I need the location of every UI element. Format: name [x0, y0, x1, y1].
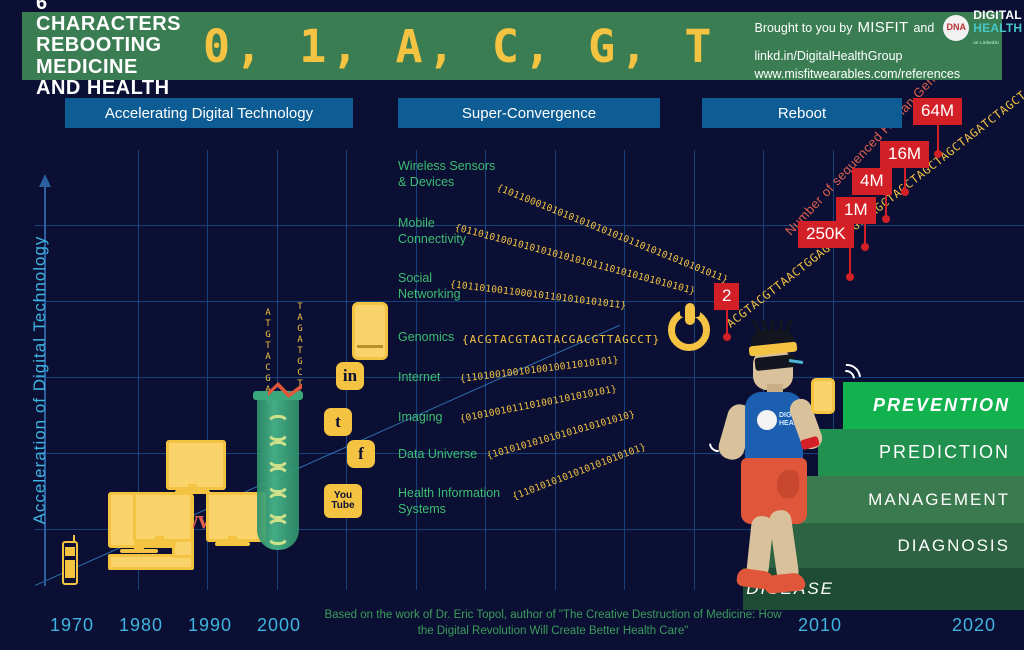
x-axis-tick-2020: 2020 — [952, 615, 996, 636]
dna-test-tube — [257, 385, 299, 550]
monitor-base — [142, 542, 177, 546]
dna-helix-turn — [266, 415, 290, 441]
phone-screen — [65, 547, 75, 556]
label-line-1: Data Universe — [398, 447, 477, 463]
mobile-phone-icon — [62, 535, 78, 585]
y-axis-label: Acceleration of Digital Technology — [30, 190, 50, 570]
dna-helix-turn — [266, 441, 290, 467]
milestone-dot — [846, 273, 854, 281]
milestone-value: 2 — [714, 283, 739, 310]
brand-conjunction: and — [913, 19, 934, 37]
milestone-value: 64M — [913, 98, 962, 125]
label-line-1: Wireless Sensors — [398, 159, 495, 175]
hair-spike — [771, 320, 774, 334]
milestone-value: 4M — [852, 168, 892, 195]
smartphone-icon — [811, 378, 835, 414]
staircase-step-prevention[interactable]: PREVENTION — [843, 382, 1024, 429]
page-title-line1: 6 CHARACTERS REBOOTING — [36, 0, 181, 57]
runner-right-shoe — [764, 572, 806, 594]
runner-figure: DIGITAL HEALTH — [715, 330, 835, 595]
network-computer-left-icon — [133, 492, 193, 548]
misfit-wordmark: MISFIT — [857, 17, 908, 39]
hair-spike — [762, 320, 768, 334]
hair-spike — [752, 320, 760, 334]
power-stem — [685, 303, 695, 325]
label-line-2: Systems — [398, 502, 500, 518]
x-axis-tick-2010: 2010 — [798, 615, 842, 636]
linkedin-icon[interactable]: in — [336, 362, 364, 390]
dna-helix-turn — [266, 519, 290, 545]
convergence-label-health-info-systems: Health Information Systems — [398, 486, 500, 517]
convergence-label-imaging: Imaging — [398, 410, 442, 426]
shorts-shading — [777, 470, 799, 498]
digital-health-wordmark: DIGITAL HEALTH on LinkedIn — [973, 9, 1022, 47]
x-axis-tick-1970: 1970 — [50, 615, 94, 636]
dh-word-linkedin: on LinkedIn — [973, 40, 998, 45]
convergence-label-data-universe: Data Universe — [398, 447, 477, 463]
binary-stream-social: {1011010011000101101010101011} — [449, 279, 627, 312]
facebook-icon[interactable]: f — [347, 440, 375, 468]
digital-health-logo: DNA DIGITAL HEALTH on LinkedIn — [943, 9, 1022, 47]
brand-credit-line: Brought to you by MISFIT and DNA DIGITAL… — [754, 9, 1022, 47]
dna-sequence-genomics: {ACGTACGTAGTACGACGTTAGCCT} — [462, 333, 660, 346]
milestone-dot — [861, 243, 869, 251]
power-button-icon[interactable] — [668, 303, 716, 351]
binary-stream-imaging: {0101001011101001101010101} — [459, 384, 618, 425]
header-banner: 6 CHARACTERS REBOOTING MEDICINE AND HEAL… — [22, 12, 1002, 80]
title-block: 6 CHARACTERS REBOOTING MEDICINE AND HEAL… — [36, 0, 181, 99]
dna-circle-icon: DNA — [943, 15, 969, 41]
twitter-icon[interactable]: t — [324, 408, 352, 436]
milestone-stem — [937, 125, 939, 153]
six-characters-display: 0, 1, A, C, G, T — [203, 20, 716, 73]
tablet-home-bar — [357, 345, 383, 348]
section-bar-super-convergence[interactable]: Super-Convergence — [398, 98, 660, 128]
label-line-1: Health Information — [398, 486, 500, 502]
page-title-line2: MEDICINE AND HEALTH — [36, 57, 181, 99]
x-axis-tick-2000: 2000 — [257, 615, 301, 636]
convergence-label-internet: Internet — [398, 370, 440, 386]
milestone-dot — [882, 215, 890, 223]
monitor-screen — [166, 440, 226, 490]
infographic-canvas: Acceleration of Digital Technology DISEA… — [0, 0, 1024, 650]
gridline-vertical — [694, 150, 695, 590]
label-line-2: & Devices — [398, 175, 495, 191]
shirt-logo-badge — [757, 410, 777, 430]
label-line-1: Imaging — [398, 410, 442, 426]
convergence-label-genomics: Genomics — [398, 330, 454, 346]
youtube-line2: Tube — [331, 501, 354, 511]
gridline-horizontal — [35, 377, 1024, 378]
gridline-horizontal — [35, 301, 1024, 302]
dh-word-health: HEALTH — [973, 21, 1022, 35]
phone-keypad — [65, 560, 75, 578]
milestone-stem — [849, 248, 851, 276]
binary-stream-health-info: {1101010101010101010101} — [511, 441, 648, 502]
gridline-horizontal — [35, 225, 1024, 226]
brand-block: Brought to you by MISFIT and DNA DIGITAL… — [754, 9, 1022, 83]
milestone-value: 250K — [798, 221, 854, 248]
label-line-1: Internet — [398, 370, 440, 386]
milestone-dot — [901, 188, 909, 196]
milestone-dot — [723, 333, 731, 341]
label-line-1: Genomics — [398, 330, 454, 346]
dna-helix-turn — [266, 467, 290, 493]
source-attribution: Based on the work of Dr. Eric Topol, aut… — [318, 608, 788, 639]
tablet-device-icon — [352, 302, 388, 360]
hair-spike — [785, 320, 793, 334]
network-computer-top-icon — [166, 440, 226, 496]
brand-linkedin-url[interactable]: linkd.in/DigitalHealthGroup — [754, 47, 1022, 65]
hair-spike — [778, 320, 783, 334]
youtube-icon[interactable]: You Tube — [324, 484, 362, 518]
x-axis-tick-1980: 1980 — [119, 615, 163, 636]
brand-references-url[interactable]: www.misfitwearables.com/references — [754, 65, 1022, 83]
milestone-value: 1M — [836, 197, 876, 224]
section-bar-reboot[interactable]: Reboot — [702, 98, 902, 128]
section-bar-accelerating-digital-technology[interactable]: Accelerating Digital Technology — [65, 98, 353, 128]
milestone-value: 16M — [880, 141, 929, 168]
label-line-2: Connectivity — [398, 232, 466, 248]
brand-prefix: Brought to you by — [754, 19, 852, 37]
dna-helix-turn — [266, 493, 290, 519]
staircase-step-prediction[interactable]: PREDICTION — [818, 429, 1024, 476]
monitor-base — [215, 542, 250, 546]
milestone-dot — [934, 150, 942, 158]
gridline-vertical — [624, 150, 625, 590]
convergence-label-wireless-sensors: Wireless Sensors & Devices — [398, 159, 495, 190]
monitor-screen — [133, 492, 193, 542]
x-axis-tick-1990: 1990 — [188, 615, 232, 636]
monitor-base — [120, 549, 158, 553]
